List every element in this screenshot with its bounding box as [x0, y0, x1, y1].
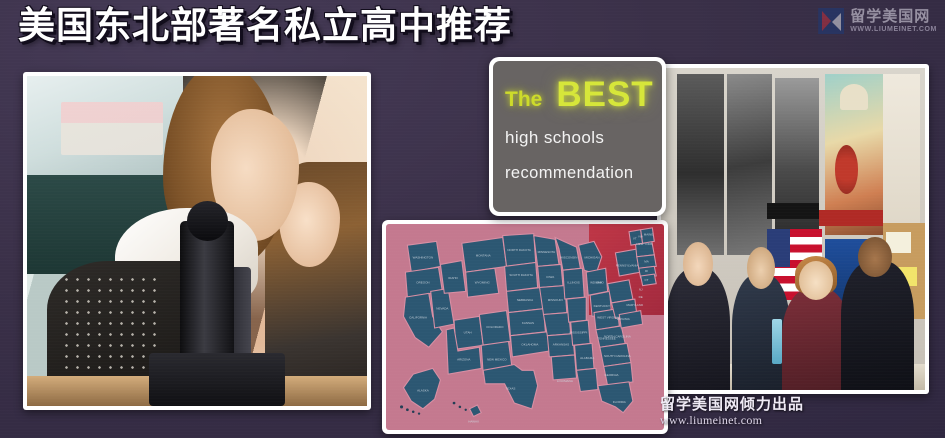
svg-text:NJ: NJ — [639, 287, 643, 291]
credit-url: www.liumeinet.com — [660, 414, 804, 428]
svg-text:COLORADO: COLORADO — [486, 325, 504, 329]
svg-text:MICHIGAN: MICHIGAN — [585, 256, 600, 260]
svg-text:OKLAHOMA: OKLAHOMA — [521, 342, 538, 346]
svg-text:PENNSYLVANIA: PENNSYLVANIA — [616, 263, 639, 267]
svg-text:KENTUCKY: KENTUCKY — [594, 304, 610, 308]
svg-text:DE: DE — [639, 295, 643, 299]
best-subtitle-line2: recommendation — [505, 164, 650, 183]
svg-text:ILLINOIS: ILLINOIS — [567, 281, 579, 285]
svg-text:IDAHO: IDAHO — [448, 276, 458, 280]
svg-text:NEVADA: NEVADA — [436, 307, 448, 311]
svg-text:NEBRASKA: NEBRASKA — [517, 298, 533, 302]
svg-text:NORTH DAKOTA: NORTH DAKOTA — [507, 248, 531, 252]
svg-text:MAINE: MAINE — [644, 233, 654, 237]
svg-text:CALIFORNIA: CALIFORNIA — [409, 315, 427, 319]
svg-text:ARKANSAS: ARKANSAS — [553, 342, 569, 346]
svg-text:MA: MA — [644, 260, 649, 264]
svg-text:RI: RI — [645, 269, 648, 273]
svg-text:MISSOURI: MISSOURI — [548, 298, 563, 302]
site-logo[interactable]: 留学美国网 WWW.LIUMEINET.COM — [818, 8, 937, 34]
svg-text:VT: VT — [633, 236, 637, 240]
svg-text:MINNESOTA: MINNESOTA — [538, 250, 556, 254]
best-schools-callout: The BEST high schools recommendation — [489, 57, 666, 216]
credit-text-cn: 留学美国网倾力出品 — [660, 396, 804, 413]
svg-text:SOUTH CAROLINA: SOUTH CAROLINA — [604, 354, 631, 358]
svg-text:MONTANA: MONTANA — [476, 254, 491, 258]
svg-text:IOWA: IOWA — [546, 275, 554, 279]
logo-name-cn: 留学美国网 — [850, 9, 937, 24]
svg-text:NEW YORK: NEW YORK — [636, 242, 652, 246]
poster-canvas: 美国东北部著名私立高中推荐 留学美国网 WWW.LIUMEINET.COM — [0, 0, 945, 438]
svg-text:CT: CT — [645, 278, 649, 282]
usa-map-svg: WASHINGTON OREGON CALIFORNIA NEVADA IDAH… — [386, 224, 664, 430]
svg-text:WYOMING: WYOMING — [475, 281, 491, 285]
svg-text:WASHINGTON: WASHINGTON — [413, 256, 434, 260]
svg-text:ALABAMA: ALABAMA — [580, 356, 594, 360]
footer-credit: 留学美国网倾力出品 www.liumeinet.com — [660, 396, 804, 428]
svg-text:MARYLAND: MARYLAND — [627, 303, 644, 307]
svg-text:GEORGIA: GEORGIA — [605, 373, 619, 377]
svg-text:LOUISIANA: LOUISIANA — [557, 379, 573, 383]
best-the-label: The — [505, 88, 542, 112]
usa-map: WASHINGTON OREGON CALIFORNIA NEVADA IDAH… — [382, 220, 668, 434]
svg-text:OREGON: OREGON — [416, 281, 429, 285]
svg-text:ALASKA: ALASKA — [417, 389, 429, 393]
svg-text:KANSAS: KANSAS — [522, 321, 534, 325]
svg-text:OHIO: OHIO — [596, 281, 604, 285]
svg-text:NH: NH — [639, 234, 643, 238]
svg-text:FLORIDA: FLORIDA — [613, 400, 626, 404]
svg-text:VIRGINIA: VIRGINIA — [617, 317, 630, 321]
svg-text:WISCONSIN: WISCONSIN — [560, 256, 577, 260]
svg-text:MISSISSIPPI: MISSISSIPPI — [570, 331, 588, 335]
svg-text:HAWAII: HAWAII — [468, 419, 479, 423]
svg-text:TEXAS: TEXAS — [505, 387, 515, 391]
logo-text: 留学美国网 WWW.LIUMEINET.COM — [850, 9, 937, 33]
svg-text:SOUTH DAKOTA: SOUTH DAKOTA — [509, 273, 532, 277]
svg-text:NEW MEXICO: NEW MEXICO — [487, 358, 507, 362]
svg-text:UTAH: UTAH — [464, 331, 472, 335]
logo-url: WWW.LIUMEINET.COM — [850, 26, 937, 33]
page-title: 美国东北部著名私立高中推荐 — [18, 4, 512, 48]
photo-microscope — [23, 72, 371, 410]
svg-text:NORTH CAROLINA: NORTH CAROLINA — [604, 335, 631, 339]
svg-text:ARIZONA: ARIZONA — [457, 358, 470, 362]
best-label: BEST — [556, 75, 653, 115]
photo-classroom — [657, 64, 929, 394]
liumeinet-logo-icon — [818, 8, 844, 34]
best-subtitle-line1: high schools — [505, 128, 650, 148]
